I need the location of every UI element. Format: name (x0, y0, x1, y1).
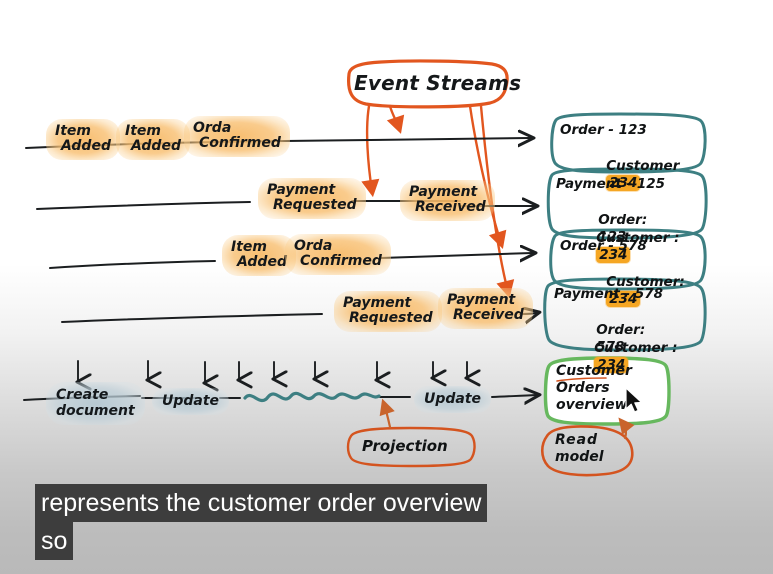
event-line-1: Payment (409, 185, 486, 200)
result-line-2: Orders (556, 380, 632, 397)
update-step-2[interactable]: Update (414, 386, 491, 413)
event-line-1: Item (125, 124, 181, 139)
update-label: Update (424, 391, 481, 407)
event-line-1: Item (231, 240, 287, 255)
field-label: Customer (606, 158, 679, 174)
event-line-2: Confirmed (199, 136, 281, 151)
create-document-line-2: document (56, 403, 135, 419)
card-title: Payment - 125 (556, 176, 665, 193)
subtitle-caption: represents the customer order overview s… (35, 484, 655, 560)
read-model-line-2: model (555, 449, 604, 466)
event-sticky[interactable]: Payment Requested (334, 291, 442, 332)
event-sticky[interactable]: Payment Requested (258, 178, 366, 219)
card-title: Order - 123 (560, 122, 647, 139)
update-step-1[interactable]: Update (152, 388, 229, 415)
projection-wave (245, 393, 379, 400)
event-line-2: Added (131, 139, 181, 154)
card-title: Payment - 578 (554, 286, 663, 303)
event-sticky[interactable]: Payment Received (438, 288, 533, 329)
result-box-label[interactable]: Customer Orders overview (556, 363, 632, 414)
aggregate-card-payment-578[interactable]: Payment - 578 Order: 578 Customer : 234 (554, 286, 704, 348)
event-line-2: Confirmed (300, 254, 382, 269)
event-sticky[interactable]: Orda Confirmed (184, 116, 290, 157)
event-line-1: Payment (267, 183, 357, 198)
mouse-pointer-icon (624, 387, 646, 417)
event-line-1: Item (55, 124, 111, 139)
card-title: Order - 578 (560, 238, 647, 255)
event-line-1: Orda (193, 121, 281, 136)
field-label: Customer : (594, 340, 677, 356)
timeline-down-arrows (78, 361, 467, 383)
update-label: Update (162, 393, 219, 409)
create-document-step[interactable]: Create document (46, 382, 145, 425)
aggregate-card-order-578[interactable]: Order - 578 Customer: 234 (560, 238, 705, 284)
whiteboard-canvas: Event Streams Item Added Item Added Orda… (0, 0, 773, 574)
create-document-line-1: Create (56, 387, 135, 403)
event-line-1: Orda (294, 239, 382, 254)
event-sticky[interactable]: Item Added (46, 119, 120, 160)
event-line-2: Received (415, 200, 486, 215)
projection-pill-label[interactable]: Projection (362, 437, 448, 455)
event-line-1: Payment (343, 296, 433, 311)
read-model-label[interactable]: Read model (555, 432, 604, 466)
event-line-2: Added (61, 139, 111, 154)
event-line-1: Payment (447, 293, 524, 308)
caption-line-2: so (35, 522, 73, 560)
read-model-line-1: Read (555, 432, 604, 449)
projection-pill-shape (348, 404, 475, 466)
event-line-2: Requested (349, 311, 433, 326)
event-line-2: Received (453, 308, 524, 323)
event-sticky[interactable]: Payment Received (400, 180, 495, 221)
event-sticky[interactable]: Item Added (116, 119, 190, 160)
event-sticky[interactable]: Orda Confirmed (285, 234, 391, 275)
event-line-2: Added (237, 255, 287, 270)
event-streams-label: Event Streams (354, 73, 521, 93)
result-line-3: overview (556, 397, 632, 414)
result-line-1: Customer (556, 363, 632, 380)
aggregate-card-order-123[interactable]: Order - 123 Customer 234 (560, 122, 705, 168)
event-line-2: Requested (273, 198, 357, 213)
aggregate-card-payment-125[interactable]: Payment - 125 Order: 123 Customer : 234 (556, 176, 706, 238)
caption-line-1: represents the customer order overview (35, 484, 487, 522)
